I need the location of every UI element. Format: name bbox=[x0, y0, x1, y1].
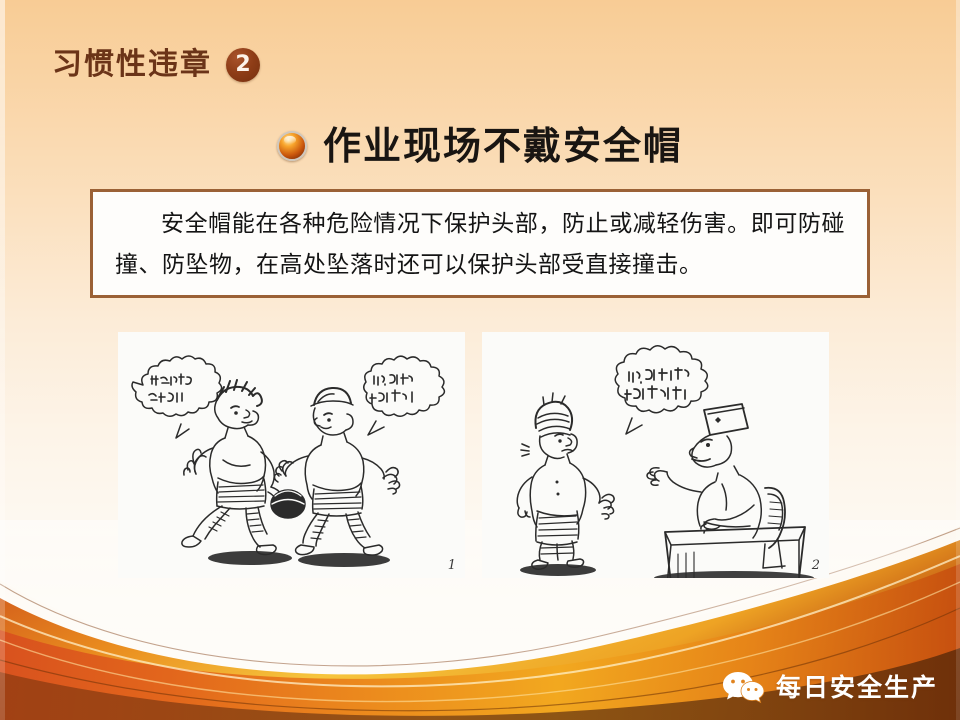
wechat-icon bbox=[722, 670, 766, 704]
subtitle-text: 作业现场不戴安全帽 bbox=[323, 127, 683, 165]
cartoon-illustration-1 bbox=[118, 332, 465, 578]
slide-canvas: 习惯性违章 2 作业现场不戴安全帽 安全帽能在各种危险情况下保护头部，防止或减轻… bbox=[0, 0, 960, 720]
wechat-watermark: 每日安全生产 bbox=[722, 670, 938, 704]
watermark-text: 每日安全生产 bbox=[776, 675, 938, 700]
cartoon-panel-1: 1 bbox=[118, 332, 465, 578]
description-box: 安全帽能在各种危险情况下保护头部，防止或减轻伤害。即可防碰撞、防坠物，在高处坠落… bbox=[90, 189, 870, 298]
slide-header: 习惯性违章 2 bbox=[52, 48, 260, 82]
section-number-badge: 2 bbox=[226, 48, 260, 82]
description-text: 安全帽能在各种危险情况下保护头部，防止或减轻伤害。即可防碰撞、防坠物，在高处坠落… bbox=[115, 204, 845, 286]
cartoon-panel-2: 2 bbox=[482, 332, 829, 578]
sphere-bullet-icon bbox=[277, 131, 307, 161]
subtitle-row: 作业现场不戴安全帽 bbox=[0, 127, 960, 165]
panel-number-1: 1 bbox=[448, 558, 456, 573]
cartoon-illustration-2 bbox=[482, 332, 829, 578]
cartoon-panels: 1 bbox=[118, 332, 846, 578]
panel-number-2: 2 bbox=[812, 558, 820, 573]
right-edge-highlight bbox=[956, 0, 960, 720]
page-title: 习惯性违章 bbox=[52, 50, 212, 80]
left-edge-highlight bbox=[0, 0, 5, 720]
